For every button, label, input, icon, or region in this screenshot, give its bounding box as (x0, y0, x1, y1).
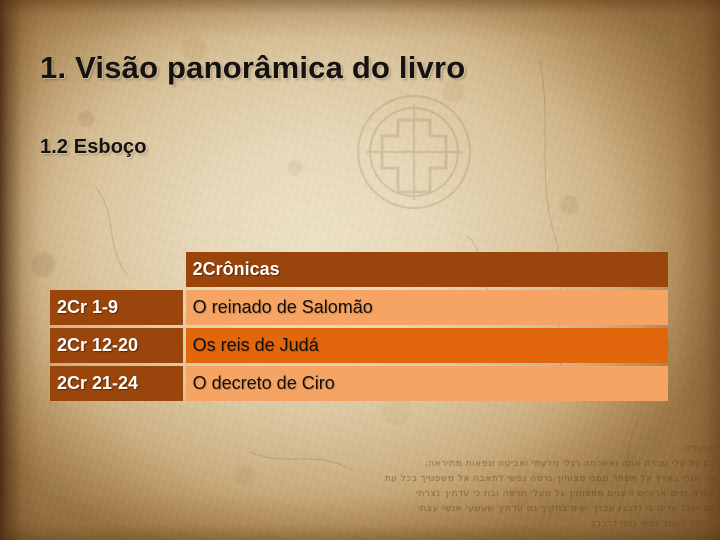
section-subtitle: 1.2 Esboço (40, 136, 147, 159)
table-cell-description: Os reis de Judá (186, 328, 668, 363)
table-cell-description: O decreto de Ciro (186, 366, 668, 401)
table-header-cell-book: 2Crônicas (186, 252, 668, 287)
table-cell-reference: 2Cr 1-9 (50, 290, 183, 325)
table-header-cell-reference (50, 252, 183, 287)
slide-content: 1. Visão panorâmica do livro 1.2 Esboço … (0, 0, 720, 540)
table-cell-description: O reinado de Salomão (186, 290, 668, 325)
table-row: 2Cr 1-9 O reinado de Salomão (50, 290, 668, 325)
outline-table: 2Crônicas 2Cr 1-9 O reinado de Salomão 2… (47, 249, 671, 404)
slide-canvas: מחוללי גם כל עלי עברת אתה ואשכחה רגלי מל… (0, 0, 720, 540)
table-row: 2Cr 21-24 O decreto de Ciro (50, 366, 668, 401)
table-cell-reference: 2Cr 21-24 (50, 366, 183, 401)
page-title: 1. Visão panorâmica do livro (40, 50, 465, 86)
table-header-row: 2Crônicas (50, 252, 668, 287)
table-cell-reference: 2Cr 12-20 (50, 328, 183, 363)
table-row: 2Cr 12-20 Os reis de Judá (50, 328, 668, 363)
